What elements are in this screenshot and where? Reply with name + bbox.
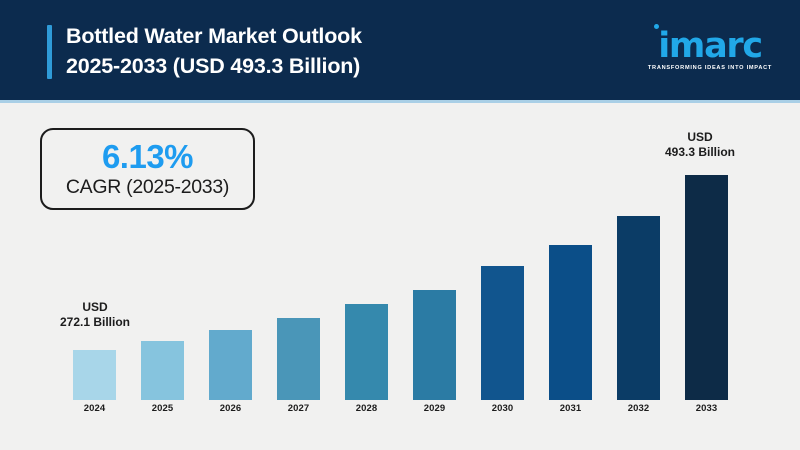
bar-chart: 2024202520262027202820292030203120322033 — [0, 0, 800, 450]
x-axis-label-2030: 2030 — [481, 403, 524, 414]
x-axis-label-2032: 2032 — [617, 403, 660, 414]
x-axis-label-2029: 2029 — [413, 403, 456, 414]
bar-2032 — [617, 216, 660, 400]
bar-2024 — [73, 350, 116, 400]
x-axis-label-2025: 2025 — [141, 403, 184, 414]
x-axis-label-2031: 2031 — [549, 403, 592, 414]
infographic-root: Bottled Water Market Outlook 2025-2033 (… — [0, 0, 800, 450]
bar-2028 — [345, 304, 388, 400]
bar-2026 — [209, 330, 252, 400]
bar-2029 — [413, 290, 456, 400]
bar-2031 — [549, 245, 592, 400]
x-axis-label-2028: 2028 — [345, 403, 388, 414]
bar-2027 — [277, 318, 320, 400]
bar-2033 — [685, 175, 728, 400]
x-axis-label-2024: 2024 — [73, 403, 116, 414]
x-axis-label-2026: 2026 — [209, 403, 252, 414]
bar-2030 — [481, 266, 524, 400]
x-axis-label-2033: 2033 — [685, 403, 728, 414]
bar-2025 — [141, 341, 184, 400]
x-axis-label-2027: 2027 — [277, 403, 320, 414]
